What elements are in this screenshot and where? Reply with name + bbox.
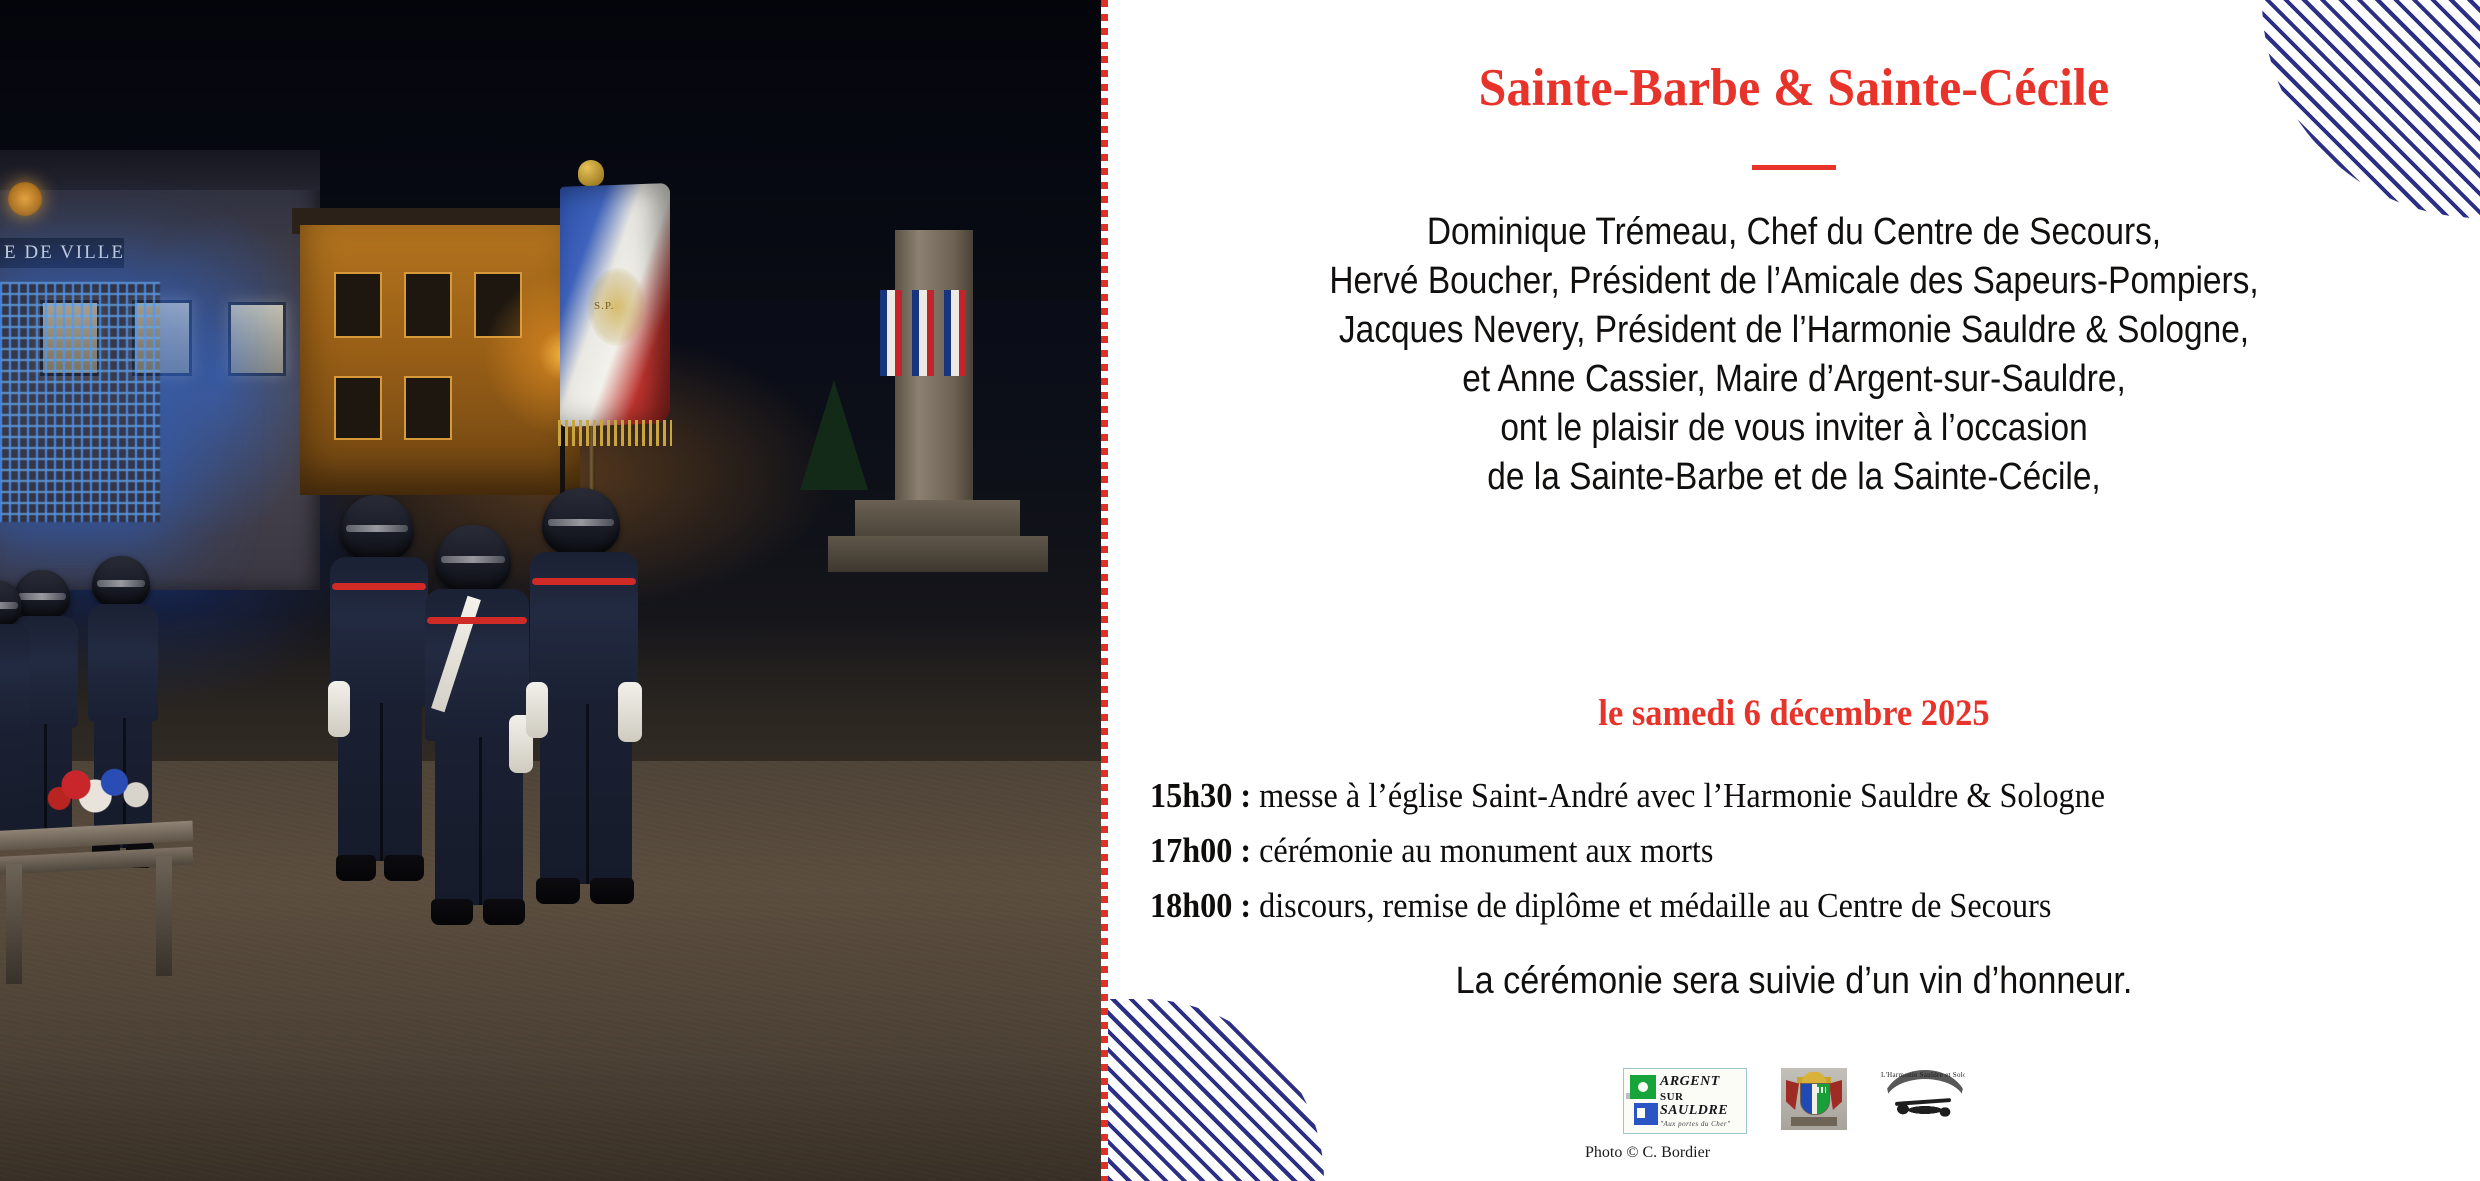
blue-key-icon bbox=[1634, 1103, 1658, 1125]
helmet-icon bbox=[340, 495, 414, 561]
page-title: Sainte-Barbe & Sainte-Cécile bbox=[1149, 58, 2439, 118]
schedule-list: 15h30 : messe à l’église Saint-André ave… bbox=[1150, 768, 2364, 933]
building-window bbox=[404, 272, 452, 338]
red-stripe bbox=[532, 578, 636, 585]
photo-credit: Photo © C. Bordier bbox=[1585, 1144, 1710, 1162]
boot bbox=[590, 878, 634, 904]
green-key-icon bbox=[1630, 1075, 1656, 1099]
invitation-line: Hervé Boucher, Président de l’Amicale de… bbox=[1190, 257, 2397, 306]
event-photo: E DE VILLE bbox=[0, 0, 1106, 1181]
town-logo-line3: SAULDRE bbox=[1660, 1103, 1744, 1119]
town-logo-line1: ARGENT bbox=[1660, 1074, 1744, 1090]
white-glove bbox=[526, 682, 548, 738]
schedule-row: 18h00 : discours, remise de diplôme et m… bbox=[1150, 878, 2364, 933]
shield-supporter-left-icon bbox=[1786, 1080, 1799, 1110]
building-window bbox=[334, 272, 382, 338]
schedule-description: cérémonie au monument aux morts bbox=[1251, 831, 1713, 870]
helmet-icon bbox=[14, 570, 70, 620]
schedule-time: 17h00 : bbox=[1150, 831, 1251, 870]
red-stripe bbox=[427, 617, 527, 624]
schedule-row: 15h30 : messe à l’église Saint-André ave… bbox=[1150, 768, 2364, 823]
dotted-divider bbox=[1101, 0, 1108, 1181]
banner-finial-icon bbox=[578, 160, 604, 186]
coat-of-arms-logo bbox=[1781, 1068, 1847, 1130]
boot bbox=[336, 855, 376, 881]
arms-ribbon bbox=[1791, 1117, 1837, 1126]
schedule-time: 18h00 : bbox=[1150, 886, 1251, 925]
argent-sur-sauldre-logo: ARGENT SUR SAULDRE "Aux portes du Cher" bbox=[1623, 1068, 1747, 1134]
shield-supporter-right-icon bbox=[1829, 1080, 1842, 1110]
harmonie-sauldre-sologne-logo: L'Harmonie Sauldre et Sologne bbox=[1881, 1068, 1965, 1130]
invitation-content: Sainte-Barbe & Sainte-Cécile Dominique T… bbox=[1108, 0, 2480, 1181]
christmas-tree bbox=[800, 380, 868, 490]
uniform-legs bbox=[338, 703, 422, 861]
white-glove bbox=[618, 682, 642, 742]
wooden-bench bbox=[0, 790, 198, 990]
french-flag-icon bbox=[944, 290, 966, 376]
boot bbox=[536, 878, 580, 904]
event-date: le samedi 6 décembre 2025 bbox=[1156, 692, 2432, 735]
musical-flourish-icon bbox=[1891, 1096, 1955, 1122]
uniform-torso bbox=[88, 604, 158, 722]
banner-fringe bbox=[558, 420, 672, 446]
red-stripe bbox=[332, 583, 426, 590]
schedule-description: discours, remise de diplôme et médaille … bbox=[1251, 886, 2051, 925]
schedule-description: messe à l’église Saint-André avec l’Harm… bbox=[1251, 776, 2105, 815]
town-logo-tagline: "Aux portes du Cher" bbox=[1660, 1120, 1744, 1128]
invitation-line: Jacques Nevery, Président de l’Harmonie … bbox=[1190, 306, 2397, 355]
monument-base bbox=[828, 536, 1048, 572]
clock-icon bbox=[8, 182, 42, 216]
harmonie-arc-text: L'Harmonie Sauldre et Sologne bbox=[1881, 1071, 1965, 1079]
invitation-line: de la Sainte-Barbe et de la Sainte-Cécil… bbox=[1190, 453, 2397, 502]
blue-light-curtain bbox=[0, 282, 160, 522]
invitation-paragraph: Dominique Trémeau, Chef du Centre de Sec… bbox=[1190, 208, 2397, 502]
french-flag-icon bbox=[880, 290, 902, 376]
invitation-line: Dominique Trémeau, Chef du Centre de Sec… bbox=[1190, 208, 2397, 257]
town-logo-line2: SUR bbox=[1660, 1091, 1744, 1103]
french-flag-icon bbox=[912, 290, 934, 376]
photo-canvas: E DE VILLE bbox=[0, 0, 1106, 1181]
town-hall-roof bbox=[0, 150, 320, 190]
boot bbox=[384, 855, 424, 881]
building-window bbox=[404, 376, 452, 440]
bench-leg bbox=[6, 864, 22, 984]
uniform-torso bbox=[0, 624, 30, 734]
boot bbox=[483, 899, 525, 925]
helmet-icon bbox=[435, 525, 511, 593]
town-hall-sign: E DE VILLE bbox=[0, 238, 124, 268]
invitation-line: et Anne Cassier, Maire d’Argent-sur-Saul… bbox=[1190, 355, 2397, 404]
bench-leg bbox=[156, 856, 172, 976]
bench-seat bbox=[0, 821, 193, 852]
invitation-line: ont le plaisir de vous inviter à l’occas… bbox=[1190, 404, 2397, 453]
helmet-icon bbox=[92, 556, 150, 608]
white-glove bbox=[328, 681, 350, 737]
schedule-row: 17h00 : cérémonie au monument aux morts bbox=[1150, 823, 2364, 878]
poster-root: E DE VILLE bbox=[0, 0, 2480, 1181]
war-memorial-monument bbox=[895, 230, 973, 530]
schedule-time: 15h30 : bbox=[1150, 776, 1251, 815]
banner-text: S.P. bbox=[594, 300, 615, 312]
logo-row: ARGENT SUR SAULDRE "Aux portes du Cher" … bbox=[1108, 1068, 2480, 1134]
helmet-icon bbox=[542, 488, 620, 556]
closing-note: La cérémonie sera suivie d’un vin d’honn… bbox=[1177, 960, 2412, 1003]
building-window bbox=[334, 376, 382, 440]
shield-icon bbox=[1800, 1083, 1830, 1115]
title-divider-rule bbox=[1752, 165, 1836, 170]
boot bbox=[431, 899, 473, 925]
